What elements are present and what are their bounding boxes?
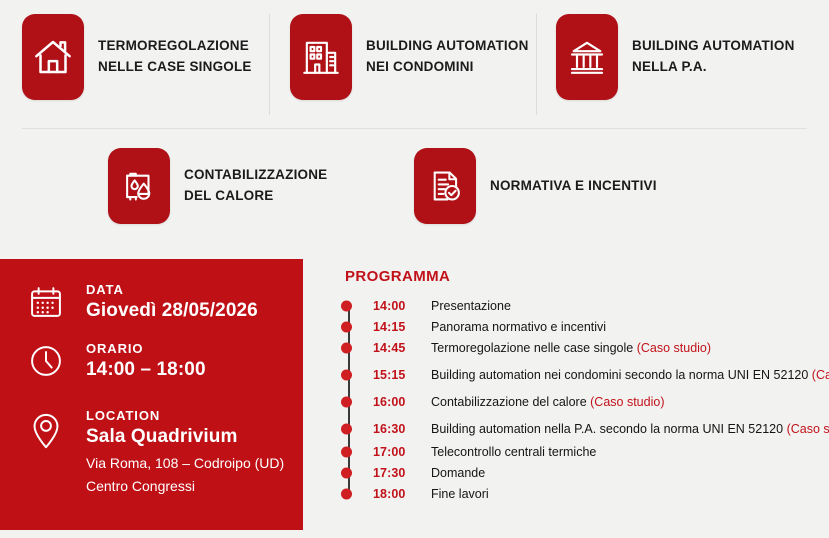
- topic-label: NORMATIVA E INCENTIVI: [490, 176, 657, 197]
- detail-address-line-2: Centro Congressi: [86, 476, 284, 496]
- timeline-dot: [341, 446, 352, 457]
- detail-value: Giovedì 28/05/2026: [86, 299, 258, 324]
- topic-contabilizzazione[interactable]: CONTABILIZZAZIONE DEL CALORE: [108, 148, 327, 224]
- detail-value: 14:00 – 18:00: [86, 358, 206, 383]
- detail-text: LOCATION Sala Quadrivium Via Roma, 108 –…: [86, 408, 284, 497]
- programme-item-title: Building automation nei condomini second…: [431, 368, 808, 382]
- topic-label: BUILDING AUTOMATION NELLA P.A.: [632, 36, 795, 78]
- programme-item-title: Fine lavori: [431, 487, 489, 501]
- programme-item-text: Fine lavori: [431, 487, 489, 501]
- programme-item: 14:45Termoregolazione nelle case singole…: [345, 337, 825, 358]
- programme-item: 14:15Panorama normativo e incentivi: [345, 316, 825, 337]
- detail-row-data: DATA Giovedì 28/05/2026: [24, 282, 258, 324]
- programme-item-text: Termoregolazione nelle case singole (Cas…: [431, 341, 711, 355]
- programme-item-time: 15:15: [373, 368, 431, 382]
- detail-text: DATA Giovedì 28/05/2026: [86, 282, 258, 324]
- programme-item-text: Panorama normativo e incentivi: [431, 320, 606, 334]
- apartment-building-icon: [290, 14, 352, 100]
- calendar-icon: [24, 282, 68, 320]
- timeline-dot: [341, 369, 352, 380]
- programme-item-title: Panorama normativo e incentivi: [431, 320, 606, 334]
- programme-timeline: 14:00Presentazione14:15Panorama normativ…: [345, 295, 825, 504]
- event-details-panel: DATA Giovedì 28/05/2026 ORARIO 14:00 – 1…: [0, 259, 303, 530]
- topic-building-automation-condomini[interactable]: BUILDING AUTOMATION NEI CONDOMINI: [290, 14, 529, 100]
- detail-value: Sala Quadrivium: [86, 425, 284, 450]
- detail-key: LOCATION: [86, 408, 284, 424]
- programme-item-title: Domande: [431, 466, 485, 480]
- programme-item-text: Domande: [431, 466, 485, 480]
- detail-key: DATA: [86, 282, 258, 298]
- programme-item: 18:00Fine lavori: [345, 483, 825, 504]
- divider-horizontal: [22, 128, 807, 129]
- programme-item: 16:00Contabilizzazione del calore (Caso …: [345, 391, 825, 412]
- programme-item-time: 17:30: [373, 466, 431, 480]
- classical-building-icon: [556, 14, 618, 100]
- topic-termoregolazione[interactable]: TERMOREGOLAZIONE NELLE CASE SINGOLE: [22, 14, 252, 100]
- programme-item-text: Contabilizzazione del calore (Caso studi…: [431, 395, 664, 409]
- programme-item-tag: (Caso studio): [787, 422, 829, 436]
- programme-item: 17:30Domande: [345, 462, 825, 483]
- programme-item-text: Presentazione: [431, 299, 511, 313]
- programme-item-title: Presentazione: [431, 299, 511, 313]
- detail-address-line-1: Via Roma, 108 – Codroipo (UD): [86, 453, 284, 473]
- timeline-dot: [341, 321, 352, 332]
- timeline-dot: [341, 423, 352, 434]
- programme-item-text: Building automation nei condomini second…: [431, 368, 829, 382]
- topic-label: TERMOREGOLAZIONE NELLE CASE SINGOLE: [98, 36, 252, 78]
- programme-title: PROGRAMMA: [345, 268, 825, 285]
- programme-item: 16:30Building automation nella P.A. seco…: [345, 418, 825, 439]
- programme-item-tag: (Caso studio): [590, 395, 664, 409]
- topic-building-automation-pa[interactable]: BUILDING AUTOMATION NELLA P.A.: [556, 14, 795, 100]
- programme-item-time: 17:00: [373, 445, 431, 459]
- topic-label: BUILDING AUTOMATION NEI CONDOMINI: [366, 36, 529, 78]
- event-info-graphic: TERMOREGOLAZIONE NELLE CASE SINGOLE: [0, 0, 829, 538]
- divider-vertical-1: [269, 14, 270, 115]
- programme-item-title: Termoregolazione nelle case singole: [431, 341, 633, 355]
- house-icon: [22, 14, 84, 100]
- programme-item-tag: (Caso studio): [637, 341, 711, 355]
- programme-section: PROGRAMMA 14:00Presentazione14:15Panoram…: [345, 268, 825, 504]
- programme-item-title: Building automation nella P.A. secondo l…: [431, 422, 783, 436]
- location-pin-icon: [24, 408, 68, 450]
- programme-item-time: 16:30: [373, 422, 431, 436]
- heat-meter-drop-icon: [108, 148, 170, 224]
- detail-key: ORARIO: [86, 341, 206, 357]
- programme-item-tag: (Caso studio): [812, 368, 829, 382]
- programme-item-time: 14:00: [373, 299, 431, 313]
- programme-item-time: 16:00: [373, 395, 431, 409]
- timeline-dot: [341, 396, 352, 407]
- document-check-icon: [414, 148, 476, 224]
- detail-text: ORARIO 14:00 – 18:00: [86, 341, 206, 383]
- programme-item-title: Contabilizzazione del calore: [431, 395, 587, 409]
- programme-item-text: Telecontrollo centrali termiche: [431, 445, 596, 459]
- timeline-dot: [341, 488, 352, 499]
- programme-item: 15:15Building automation nei condomini s…: [345, 364, 825, 385]
- timeline-dot: [341, 342, 352, 353]
- clock-icon: [24, 341, 68, 379]
- programme-item-text: Building automation nella P.A. secondo l…: [431, 422, 829, 436]
- programme-item-time: 14:15: [373, 320, 431, 334]
- detail-row-location: LOCATION Sala Quadrivium Via Roma, 108 –…: [24, 408, 284, 497]
- programme-item: 14:00Presentazione: [345, 295, 825, 316]
- detail-row-orario: ORARIO 14:00 – 18:00: [24, 341, 206, 383]
- topic-normativa-incentivi[interactable]: NORMATIVA E INCENTIVI: [414, 148, 657, 224]
- timeline-dot: [341, 467, 352, 478]
- divider-vertical-2: [536, 14, 537, 115]
- programme-item-time: 14:45: [373, 341, 431, 355]
- programme-item: 17:00Telecontrollo centrali termiche: [345, 441, 825, 462]
- topic-label: CONTABILIZZAZIONE DEL CALORE: [184, 165, 327, 207]
- programme-item-title: Telecontrollo centrali termiche: [431, 445, 596, 459]
- timeline-dot: [341, 300, 352, 311]
- programme-item-time: 18:00: [373, 487, 431, 501]
